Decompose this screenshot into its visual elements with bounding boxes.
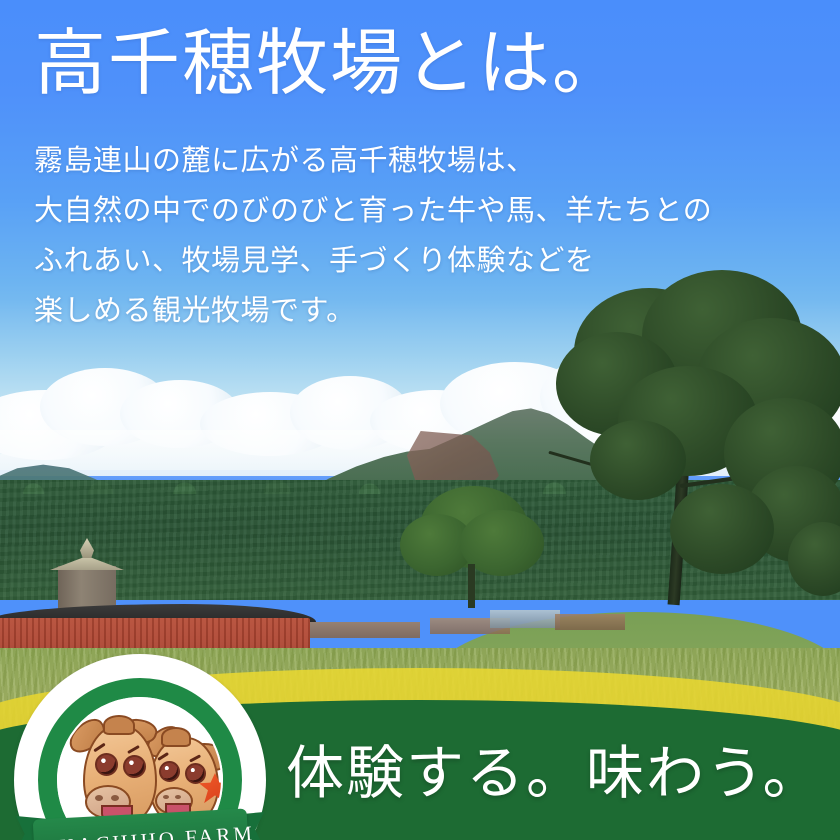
tagline: 体験する。味わう。 [286,745,823,803]
description-text: 霧島連山の麓に広がる高千穂牧場は、 大自然の中でのびのびと育った牛や馬、羊たちと… [34,136,814,336]
far-building-a [300,622,420,638]
far-building-d [555,614,625,630]
midground-tree [398,480,548,610]
description-line: 楽しめる観光牧場です。 [34,286,814,336]
takachiho-farm-logo[interactable]: TAKACHIHO FARM [14,654,266,840]
page-title: 高千穂牧場とは。 [34,26,626,104]
description-line: ふれあい、牧場見学、手づくり体験などを [34,236,814,286]
ribbon-label: TAKACHIHO FARM [32,807,249,840]
ribbon-main: TAKACHIHO FARM [33,808,250,840]
far-building-c [490,610,560,628]
description-line: 霧島連山の麓に広がる高千穂牧場は、 [34,136,814,186]
logo-ribbon: TAKACHIHO FARM [16,806,264,840]
description-line: 大自然の中でのびのびと育った牛や馬、羊たちとの [34,186,814,236]
promo-banner: 体験する。味わう。 [0,0,840,840]
